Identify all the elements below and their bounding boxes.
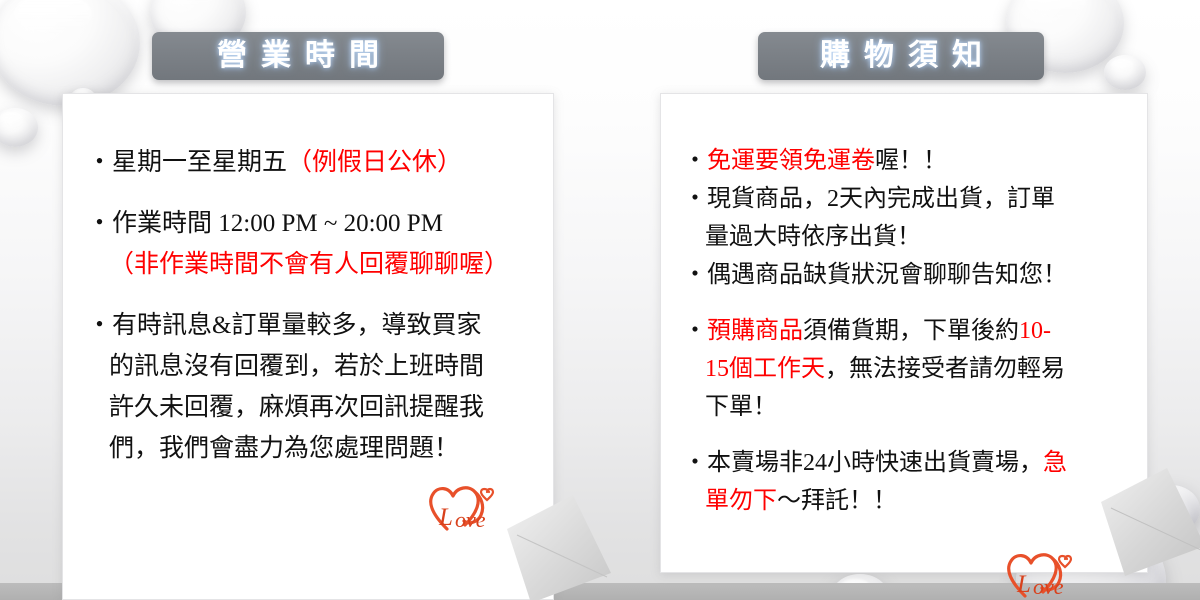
not-24h-line-1: ・本賣場非24小時快速出貨賣場，急: [683, 444, 1067, 482]
text-segment: 的訊息沒有回覆到，若於上班時間: [109, 353, 484, 380]
left-card-body: ・星期一至星期五（例假日公休）・作業時間 12:00 PM ~ 20:00 PM…: [63, 94, 553, 599]
text-segment: （例假日公休）: [287, 149, 462, 176]
text-segment: 下單！: [705, 394, 777, 420]
right-note-card: ・免運要領免運卷喔！！・現貨商品，2天內完成出貨，訂單量過大時依序出貨！・偶遇商…: [660, 93, 1148, 573]
bubble-bottom-right-mid: [1142, 485, 1200, 534]
left-banner-business-hours: 營業時間: [152, 32, 444, 80]
reply-delay-2: 的訊息沒有回覆到，若於上班時間: [87, 346, 509, 387]
preorder-line-2: 15個工作天，無法接受者請勿輕易: [683, 350, 1067, 388]
text-segment: 10-: [1019, 318, 1051, 344]
slide-canvas: 營業時間 ・星期一至星期五（例假日公休）・作業時間 12:00 PM ~ 20:…: [0, 0, 1200, 600]
text-segment: 喔！！: [875, 148, 947, 174]
in-stock-line-1: ・現貨商品，2天內完成出貨，訂單: [683, 180, 1067, 218]
left-note-card: ・星期一至星期五（例假日公休）・作業時間 12:00 PM ~ 20:00 PM…: [62, 93, 554, 600]
offhours-note: （非作業時間不會有人回覆聊聊喔）: [87, 244, 509, 285]
svg-text:ove: ove: [455, 507, 486, 532]
text-segment: ・: [683, 318, 707, 344]
text-segment: ・現貨商品，2天內完成出貨，訂單: [683, 186, 1055, 212]
bubble-top-left-large: [0, 0, 140, 106]
text-spacer: [87, 183, 509, 203]
in-stock-line-2: 量過大時依序出貨！: [683, 218, 1067, 256]
text-segment: ・星期一至星期五: [87, 149, 287, 176]
text-segment: 須備貨期，下單後約: [803, 318, 1019, 344]
text-segment: 急: [1043, 450, 1067, 476]
text-segment: 們，我們會盡力為您處理問題！: [109, 435, 459, 462]
bubble-left-edge: [0, 108, 38, 147]
right-love-logo: L ove: [997, 542, 1089, 600]
text-segment: 免運要領免運卷: [707, 148, 875, 174]
svg-text:ove: ove: [1033, 574, 1064, 599]
out-of-stock-line: ・偶遇商品缺貨狀況會聊聊告知您！: [683, 256, 1067, 294]
right-banner-shopping-notice: 購物須知: [758, 32, 1044, 80]
reply-delay-4: 們，我們會盡力為您處理問題！: [87, 428, 509, 469]
text-segment: 15個工作天: [705, 356, 825, 382]
hours-line: ・作業時間 12:00 PM ~ 20:00 PM: [87, 203, 509, 244]
text-spacer: [683, 426, 1067, 444]
right-banner-label: 購物須知: [806, 41, 996, 71]
svg-text:L: L: [1016, 571, 1031, 598]
text-segment: ・偶遇商品缺貨狀況會聊聊告知您！: [683, 262, 1067, 288]
reply-delay-3: 許久未回覆，麻煩再次回訊提醒我: [87, 387, 509, 428]
text-spacer: [683, 294, 1067, 312]
left-love-logo: L ove: [419, 475, 511, 537]
text-segment: 許久未回覆，麻煩再次回訊提醒我: [109, 394, 484, 421]
text-segment: ・作業時間 12:00 PM ~ 20:00 PM: [87, 210, 443, 237]
text-segment: 量過大時依序出貨！: [705, 224, 921, 250]
preorder-line-1: ・預購商品須備貨期，下單後約10-: [683, 312, 1067, 350]
business-hours-text-block: ・星期一至星期五（例假日公休）・作業時間 12:00 PM ~ 20:00 PM…: [87, 142, 509, 469]
free-shipping-line: ・免運要領免運卷喔！！: [683, 142, 1067, 180]
text-segment: ，無法接受者請勿輕易: [825, 356, 1065, 382]
text-segment: 單勿下: [705, 488, 777, 514]
shopping-notice-text-block: ・免運要領免運卷喔！！・現貨商品，2天內完成出貨，訂單量過大時依序出貨！・偶遇商…: [683, 142, 1067, 520]
text-segment: ・有時訊息&訂單量較多，導致買家: [87, 312, 481, 339]
text-segment: ・: [683, 148, 707, 174]
svg-text:L: L: [438, 504, 453, 531]
left-banner-label: 營業時間: [203, 41, 393, 71]
weekday-line: ・星期一至星期五（例假日公休）: [87, 142, 509, 183]
reply-delay-1: ・有時訊息&訂單量較多，導致買家: [87, 305, 509, 346]
right-card-body: ・免運要領免運卷喔！！・現貨商品，2天內完成出貨，訂單量過大時依序出貨！・偶遇商…: [661, 94, 1147, 572]
bubble-right-upper: [1104, 55, 1146, 90]
not-24h-line-2: 單勿下～拜託！！: [683, 482, 1067, 520]
preorder-line-3: 下單！: [683, 388, 1067, 426]
text-segment: 預購商品: [707, 318, 803, 344]
text-segment: ・本賣場非24小時快速出貨賣場，: [683, 450, 1043, 476]
text-spacer: [87, 285, 509, 305]
text-segment: ～拜託！！: [777, 488, 897, 514]
text-segment: （非作業時間不會有人回覆聊聊喔）: [109, 251, 509, 278]
